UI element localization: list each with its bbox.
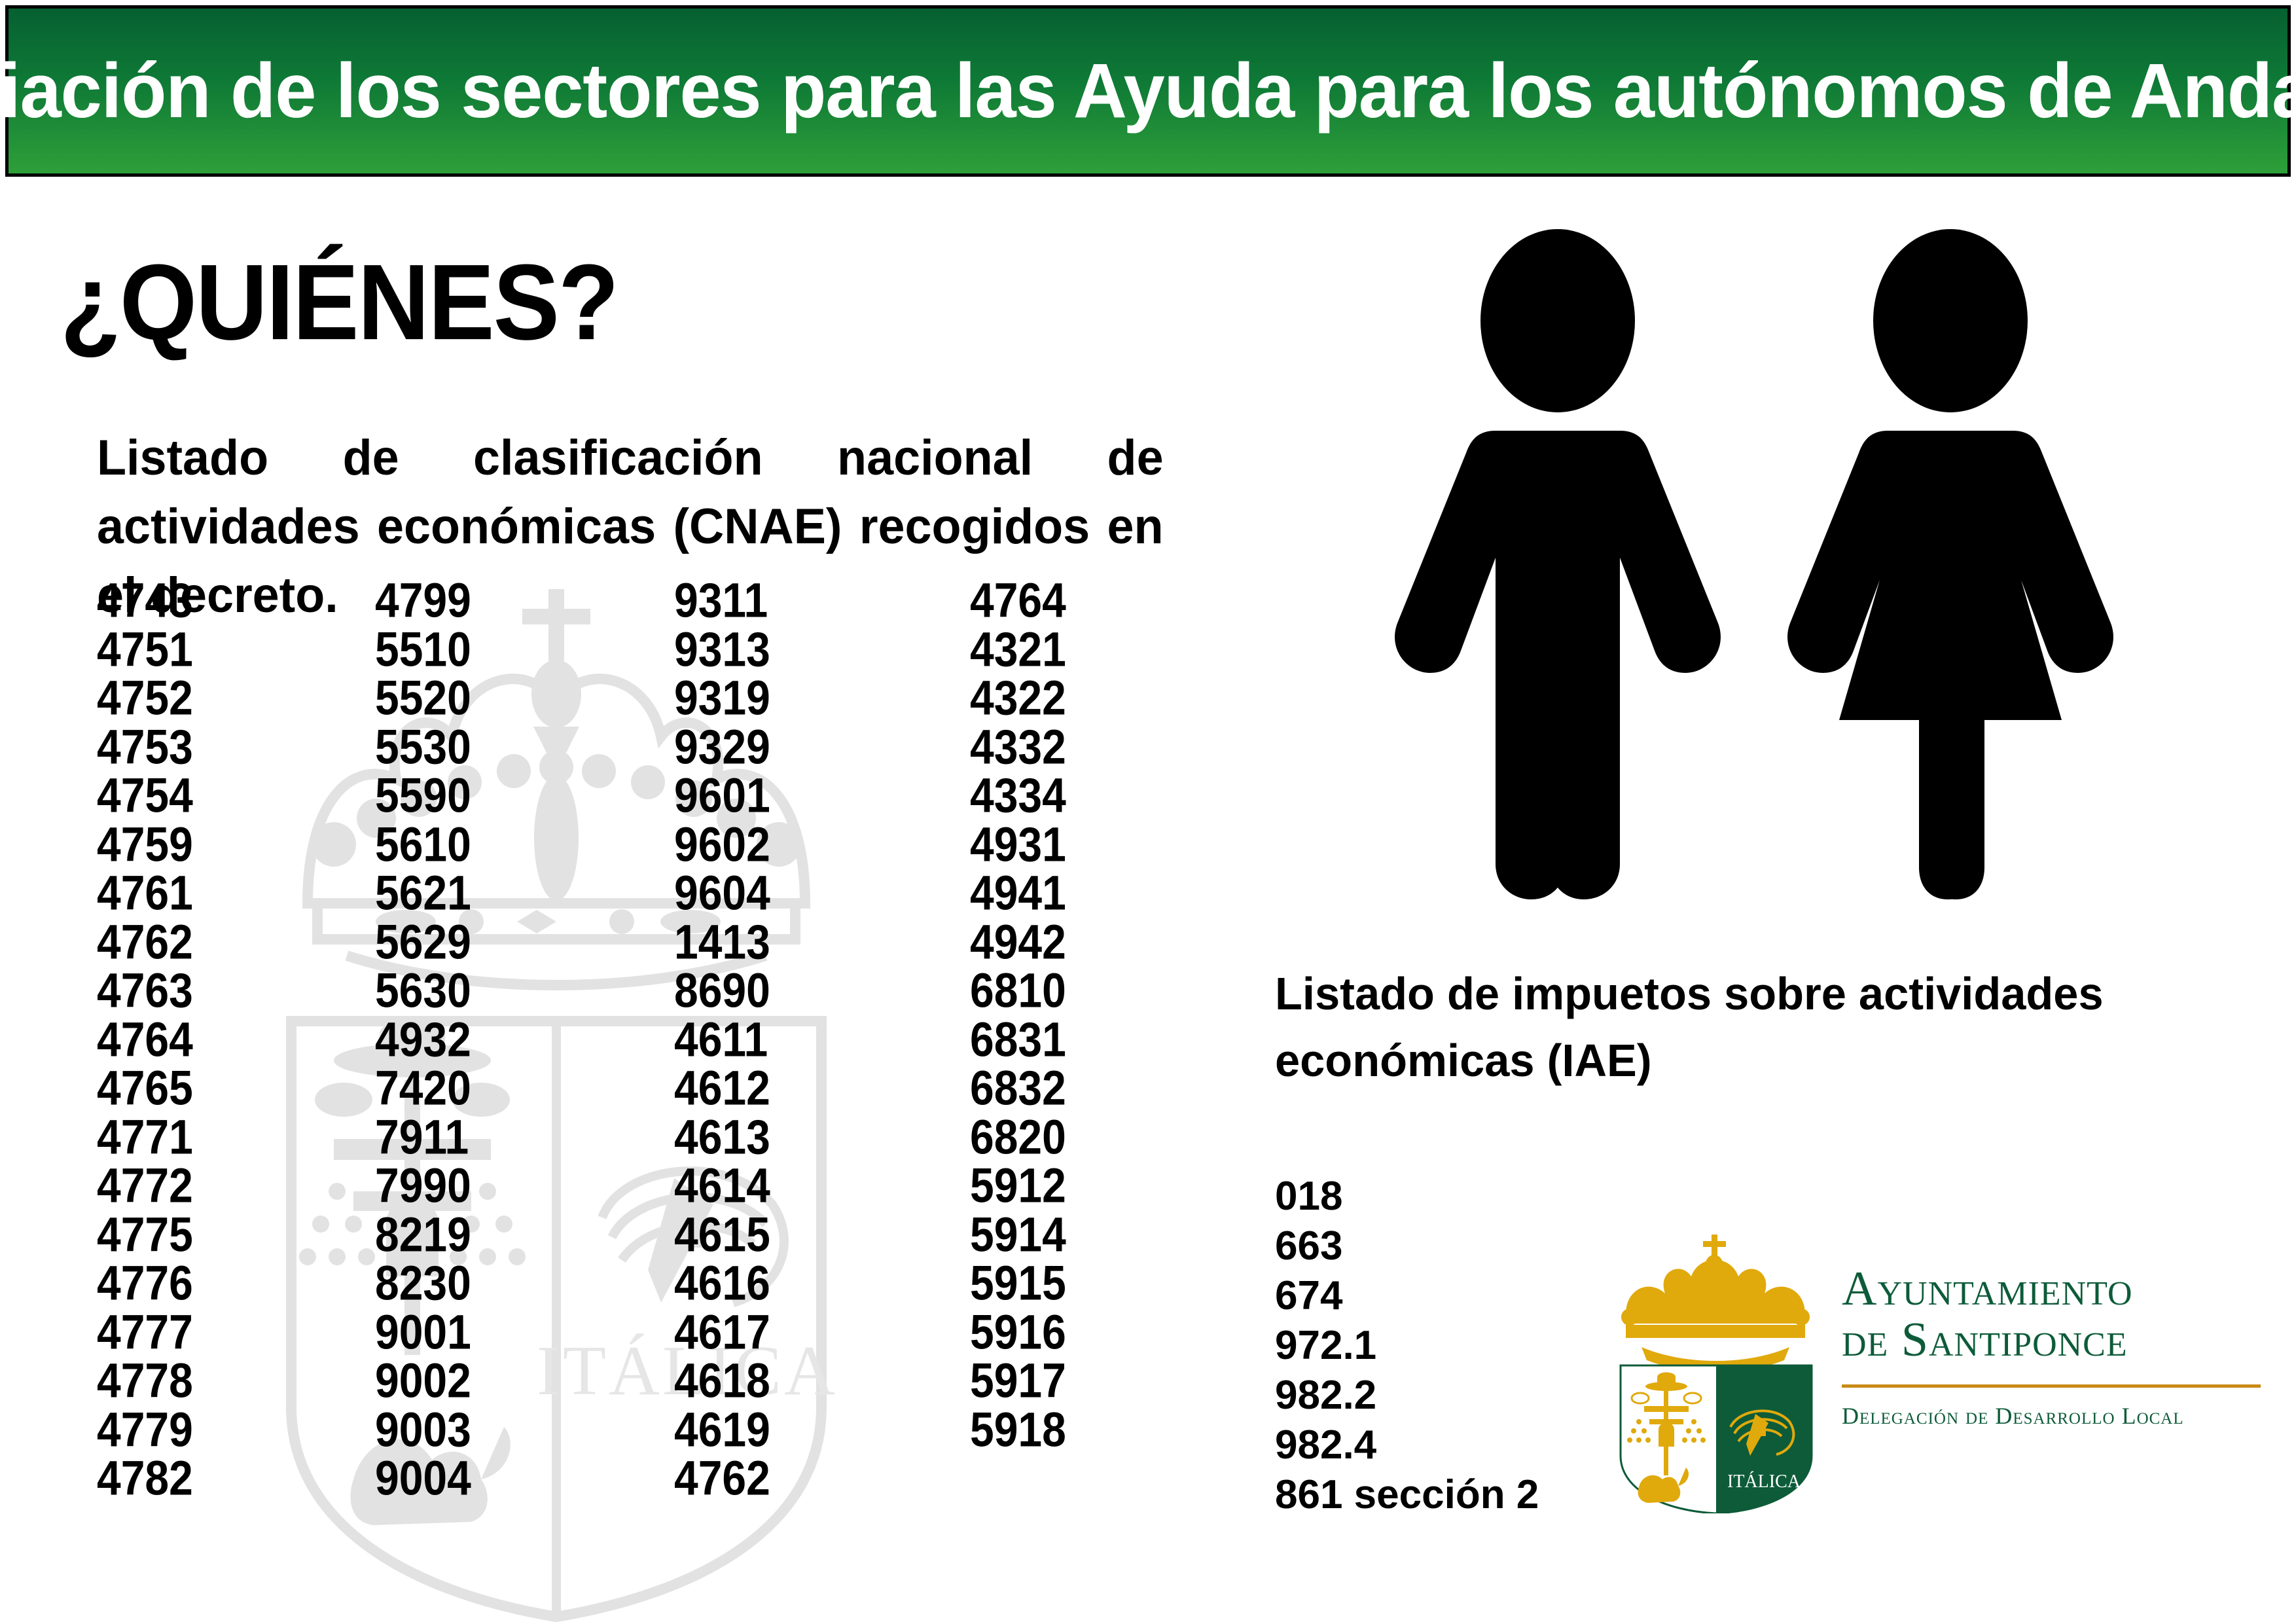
cnae-code: 5630 xyxy=(375,964,471,1018)
cnae-code: 6820 xyxy=(970,1110,1066,1164)
cnae-code: 9001 xyxy=(375,1305,471,1359)
people-pictograms xyxy=(1361,223,2147,903)
cnae-code: 4778 xyxy=(97,1354,193,1408)
cnae-code: 4322 xyxy=(970,671,1066,725)
ayuntamiento-logo: ITÁLICA Ayuntamiento de Santiponce Deleg… xyxy=(1611,1225,2272,1526)
cnae-code: 4617 xyxy=(674,1305,770,1359)
cnae-code: 5610 xyxy=(375,817,471,871)
cnae-code: 4761 xyxy=(97,866,193,920)
cnae-code: 4763 xyxy=(97,964,193,1018)
cnae-column-2: 4799551055205530559056105621562956304932… xyxy=(375,576,471,1503)
cnae-code: 9329 xyxy=(674,719,770,774)
page-title: Ampliación de los sectores para las Ayud… xyxy=(0,46,2296,135)
cnae-code: 8219 xyxy=(375,1207,471,1261)
cnae-code: 4334 xyxy=(970,768,1066,823)
cnae-code: 4762 xyxy=(97,914,193,969)
cnae-code: 4752 xyxy=(97,671,193,725)
cnae-code: 4931 xyxy=(970,817,1066,871)
cnae-code: 1413 xyxy=(674,914,770,969)
section-heading-quienes: ¿QUIÉNES? xyxy=(60,241,618,365)
cnae-code: 5916 xyxy=(970,1305,1066,1359)
cnae-code: 5915 xyxy=(970,1256,1066,1310)
cnae-code: 9313 xyxy=(674,622,770,676)
cnae-code: 9604 xyxy=(674,866,770,920)
iae-code-list: 018663674972.1982.2982.4861 sección 2 xyxy=(1275,1172,1539,1520)
cnae-code: 8690 xyxy=(674,964,770,1018)
cnae-code: 4776 xyxy=(97,1256,193,1310)
iae-code: 663 xyxy=(1275,1221,1539,1271)
cnae-code: 4332 xyxy=(970,719,1066,774)
cnae-code: 6831 xyxy=(970,1012,1066,1066)
cnae-code: 4753 xyxy=(97,719,193,774)
cnae-code: 5510 xyxy=(375,622,471,676)
cnae-code: 4941 xyxy=(970,866,1066,920)
cnae-column-1: 4743475147524753475447594761476247634764… xyxy=(97,576,193,1503)
cnae-code: 4775 xyxy=(97,1207,193,1261)
cnae-code: 5520 xyxy=(375,671,471,725)
cnae-column-4: 4764432143224332433449314941494268106831… xyxy=(970,576,1066,1454)
cnae-code: 4777 xyxy=(97,1305,193,1359)
cnae-code: 4772 xyxy=(97,1159,193,1213)
cnae-code: 4751 xyxy=(97,622,193,676)
cnae-code: 4618 xyxy=(674,1354,770,1408)
shield-motto: ITÁLICA xyxy=(1727,1471,1801,1492)
cnae-code: 9311 xyxy=(674,573,770,628)
iae-code: 982.4 xyxy=(1275,1420,1539,1470)
cnae-code: 5914 xyxy=(970,1207,1066,1261)
cnae-code: 4779 xyxy=(97,1402,193,1456)
cnae-code: 4616 xyxy=(674,1256,770,1310)
cnae-code: 6810 xyxy=(970,964,1066,1018)
cnae-code: 5917 xyxy=(970,1354,1066,1408)
cnae-column-3: 9311931393199329960196029604141386904611… xyxy=(674,576,770,1503)
cnae-code: 4612 xyxy=(674,1061,770,1115)
cnae-code: 4611 xyxy=(674,1012,770,1066)
cnae-code: 6832 xyxy=(970,1061,1066,1115)
cnae-code: 9602 xyxy=(674,817,770,871)
cnae-code: 7911 xyxy=(375,1110,471,1164)
iae-code: 674 xyxy=(1275,1271,1539,1321)
cnae-code: 5621 xyxy=(375,866,471,920)
iae-code: 018 xyxy=(1275,1172,1539,1221)
cnae-code: 9319 xyxy=(674,671,770,725)
cnae-code: 5590 xyxy=(375,768,471,823)
cnae-code: 5530 xyxy=(375,719,471,774)
iae-section-title: Listado de impuetos sobre actividades ec… xyxy=(1275,961,2250,1094)
cnae-code: 4754 xyxy=(97,768,193,823)
cnae-code: 4759 xyxy=(97,817,193,871)
logo-subtitle: Delegación de Desarrollo Local xyxy=(1842,1402,2267,1430)
cnae-code: 4764 xyxy=(970,573,1066,628)
woman-pictogram xyxy=(1787,229,2113,899)
cnae-code: 5918 xyxy=(970,1402,1066,1456)
santiponce-crest-icon: ITÁLICA xyxy=(1611,1225,1821,1513)
cnae-code: 4762 xyxy=(674,1451,770,1506)
cnae-code: 4619 xyxy=(674,1402,770,1456)
man-pictogram xyxy=(1395,229,1721,899)
cnae-code: 4614 xyxy=(674,1159,770,1213)
cnae-code: 9002 xyxy=(375,1354,471,1408)
cnae-code: 4321 xyxy=(970,622,1066,676)
cnae-code: 4765 xyxy=(97,1061,193,1115)
cnae-code: 4799 xyxy=(375,573,471,628)
cnae-code: 9003 xyxy=(375,1402,471,1456)
cnae-code: 4932 xyxy=(375,1012,471,1066)
logo-divider xyxy=(1842,1384,2261,1388)
iae-code: 982.2 xyxy=(1275,1371,1539,1420)
cnae-code: 4743 xyxy=(97,573,193,628)
logo-line-1: Ayuntamiento xyxy=(1842,1263,2267,1314)
cnae-code: 5629 xyxy=(375,914,471,969)
cnae-code: 4615 xyxy=(674,1207,770,1261)
cnae-code: 9004 xyxy=(375,1451,471,1506)
iae-code: 972.1 xyxy=(1275,1321,1539,1371)
cnae-code-grid: 4743475147524753475447594761476247634764… xyxy=(0,576,1244,1506)
cnae-code: 4782 xyxy=(97,1451,193,1506)
logo-line-2: de Santiponce xyxy=(1842,1314,2267,1365)
cnae-code: 4613 xyxy=(674,1110,770,1164)
cnae-code: 4764 xyxy=(97,1012,193,1066)
iae-code: 861 sección 2 xyxy=(1275,1470,1539,1520)
cnae-code: 7990 xyxy=(375,1159,471,1213)
cnae-code: 5912 xyxy=(970,1159,1066,1213)
cnae-code: 7420 xyxy=(375,1061,471,1115)
header-banner: Ampliación de los sectores para las Ayud… xyxy=(5,5,2291,177)
cnae-code: 4942 xyxy=(970,914,1066,969)
cnae-code: 8230 xyxy=(375,1256,471,1310)
cnae-code: 4771 xyxy=(97,1110,193,1164)
cnae-code: 9601 xyxy=(674,768,770,823)
